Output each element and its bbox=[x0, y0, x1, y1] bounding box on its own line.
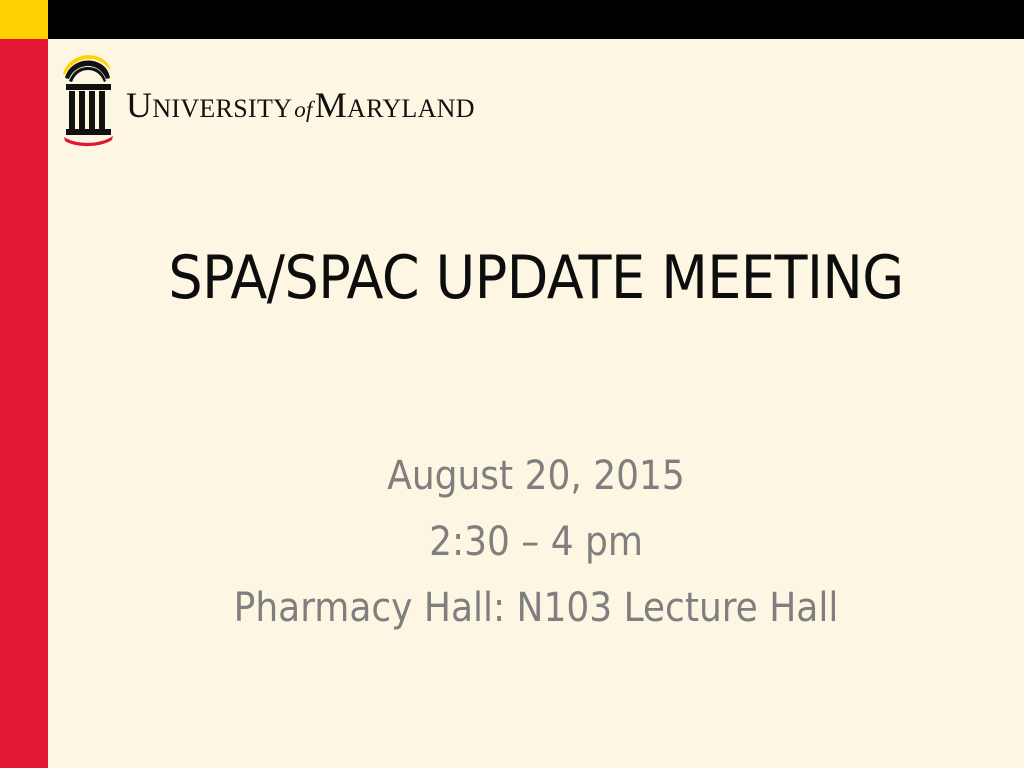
logo-word-niversity: NIVERSITY bbox=[152, 94, 292, 123]
subtitle-line-time: 2:30 – 4 pm bbox=[48, 509, 1024, 575]
black-top-bar bbox=[48, 0, 1024, 39]
red-side-bar bbox=[0, 39, 48, 768]
subtitle-line-date: August 20, 2015 bbox=[48, 443, 1024, 509]
logo-word-of: of bbox=[292, 97, 315, 122]
logo-word-u: U bbox=[126, 85, 152, 125]
presentation-slide: UNIVERSITYofMARYLAND SPA/SPAC UPDATE MEE… bbox=[0, 0, 1024, 768]
logo-word-m: M bbox=[315, 85, 347, 125]
logo-word-aryland: ARYLAND bbox=[347, 94, 475, 123]
university-logo: UNIVERSITYofMARYLAND bbox=[60, 48, 475, 148]
subtitle-line-location: Pharmacy Hall: N103 Lecture Hall bbox=[48, 575, 1024, 641]
gold-corner-block bbox=[0, 0, 48, 39]
slide-subtitle: August 20, 2015 2:30 – 4 pm Pharmacy Hal… bbox=[48, 443, 1024, 641]
slide-title: SPA/SPAC UPDATE MEETING bbox=[48, 245, 1024, 311]
logo-wordmark: UNIVERSITYofMARYLAND bbox=[126, 87, 475, 123]
maryland-column-icon bbox=[60, 48, 118, 148]
